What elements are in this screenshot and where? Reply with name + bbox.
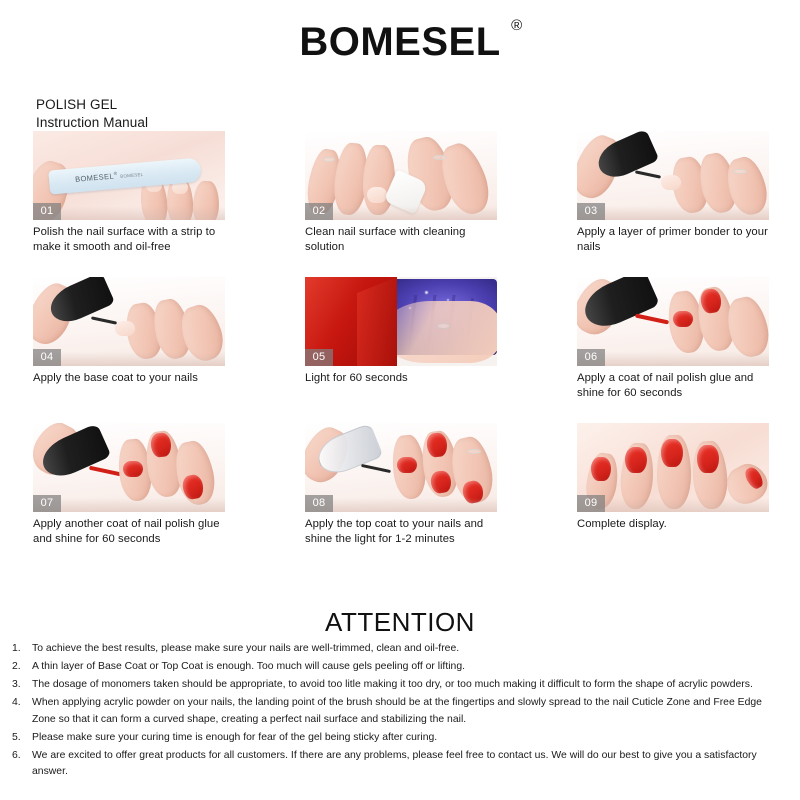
surface-shadow xyxy=(577,206,769,220)
surface-shadow xyxy=(577,352,769,366)
step-number-badge: 09 xyxy=(577,495,605,512)
note-item: 6. We are excited to offer great product… xyxy=(12,748,788,780)
step-photo-01: BOMESEL® BOMESEL 01 xyxy=(33,131,225,220)
step-caption: Light for 60 seconds xyxy=(305,371,497,386)
step-caption: Complete display. xyxy=(577,517,769,532)
note-number: 6. xyxy=(12,748,32,764)
note-text: Please make sure your curing time is eno… xyxy=(32,730,788,746)
step-card: BOMESEL® BOMESEL 01 Polish the nail surf… xyxy=(33,131,225,255)
ring-accessory xyxy=(437,323,450,329)
step-photo-05: 05 xyxy=(305,277,497,366)
step-number-badge: 08 xyxy=(305,495,333,512)
step-number-badge: 04 xyxy=(33,349,61,366)
note-text: The dosage of monomers taken should be a… xyxy=(32,677,788,693)
step-photo-08: 08 xyxy=(305,423,497,512)
note-text: When applying acrylic powder on your nai… xyxy=(32,695,788,727)
step-caption: Apply the top coat to your nails and shi… xyxy=(305,517,497,547)
note-item: 5. Please make sure your curing time is … xyxy=(12,730,788,746)
note-item: 1. To achieve the best results, please m… xyxy=(12,641,788,657)
instruction-manual-page: BOMESEL ® POLISH GEL Instruction Manual … xyxy=(0,0,800,800)
hand-shape xyxy=(381,301,497,363)
step-card: 05 Light for 60 seconds xyxy=(305,277,497,401)
ring-accessory xyxy=(733,169,747,174)
note-number: 5. xyxy=(12,730,32,746)
file-brand-label: BOMESEL® BOMESEL xyxy=(75,168,144,183)
note-item: 2. A thin layer of Base Coat or Top Coat… xyxy=(12,659,788,675)
step-photo-03: 03 xyxy=(577,131,769,220)
nail-shape-red xyxy=(625,447,647,473)
step-photo-07: 07 xyxy=(33,423,225,512)
note-text: We are excited to offer great products f… xyxy=(32,748,788,780)
step-card: 07 Apply another coat of nail polish glu… xyxy=(33,423,225,547)
step-photo-06: 06 xyxy=(577,277,769,366)
step-number-badge: 03 xyxy=(577,203,605,220)
nail-shape-red xyxy=(123,461,143,477)
brand-header: BOMESEL ® xyxy=(0,0,800,62)
surface-shadow xyxy=(33,498,225,512)
step-caption: Apply the base coat to your nails xyxy=(33,371,225,386)
nail-shape xyxy=(367,187,387,203)
step-photo-02: 02 xyxy=(305,131,497,220)
manual-title: POLISH GEL Instruction Manual xyxy=(36,96,148,132)
step-photo-09: 09 xyxy=(577,423,769,512)
step-caption: Apply a layer of primer bonder to your n… xyxy=(577,225,769,255)
step-caption: Polish the nail surface with a strip to … xyxy=(33,225,225,255)
note-item: 3. The dosage of monomers taken should b… xyxy=(12,677,788,693)
nail-shape-red xyxy=(661,439,683,467)
step-caption: Apply another coat of nail polish glue a… xyxy=(33,517,225,547)
note-number: 2. xyxy=(12,659,32,675)
step-caption: Clean nail surface with cleaning solutio… xyxy=(305,225,497,255)
surface-shadow xyxy=(33,352,225,366)
note-text: A thin layer of Base Coat or Top Coat is… xyxy=(32,659,788,675)
surface-shadow xyxy=(33,206,225,220)
step-number-badge: 02 xyxy=(305,203,333,220)
nail-shape xyxy=(661,175,681,190)
step-number-badge: 07 xyxy=(33,495,61,512)
manual-title-line2: Instruction Manual xyxy=(36,114,148,132)
step-photo-04: 04 xyxy=(33,277,225,366)
step-card: 08 Apply the top coat to your nails and … xyxy=(305,423,497,547)
nail-shape-red xyxy=(397,457,417,473)
step-card: 02 Clean nail surface with cleaning solu… xyxy=(305,131,497,255)
registered-trademark-icon: ® xyxy=(511,18,523,33)
note-number: 1. xyxy=(12,641,32,657)
nail-shape-red xyxy=(673,311,693,327)
brand-logo: BOMESEL ® xyxy=(299,22,500,62)
step-number-badge: 01 xyxy=(33,203,61,220)
step-card: 04 Apply the base coat to your nails xyxy=(33,277,225,401)
manual-title-line1: POLISH GEL xyxy=(36,96,148,114)
step-card: 03 Apply a layer of primer bonder to you… xyxy=(577,131,769,255)
note-number: 4. xyxy=(12,695,32,711)
surface-shadow xyxy=(577,498,769,512)
note-number: 3. xyxy=(12,677,32,693)
note-text: To achieve the best results, please make… xyxy=(32,641,788,657)
attention-notes-list: 1. To achieve the best results, please m… xyxy=(12,641,788,782)
nail-shape-red xyxy=(697,445,719,473)
ring-accessory xyxy=(433,155,446,160)
steps-grid: BOMESEL® BOMESEL 01 Polish the nail surf… xyxy=(33,131,769,547)
surface-shadow xyxy=(305,498,497,512)
brand-name: BOMESEL xyxy=(299,20,500,64)
nail-shape xyxy=(115,321,135,336)
note-item: 4. When applying acrylic powder on your … xyxy=(12,695,788,727)
surface-shadow xyxy=(305,206,497,220)
step-number-badge: 05 xyxy=(305,349,333,366)
step-card: 09 Complete display. xyxy=(577,423,769,547)
attention-heading: ATTENTION xyxy=(0,607,800,638)
step-caption: Apply a coat of nail polish glue and shi… xyxy=(577,371,769,401)
step-number-badge: 06 xyxy=(577,349,605,366)
step-card: 06 Apply a coat of nail polish glue and … xyxy=(577,277,769,401)
nail-shape-red xyxy=(591,457,611,481)
ring-accessory xyxy=(323,157,335,162)
